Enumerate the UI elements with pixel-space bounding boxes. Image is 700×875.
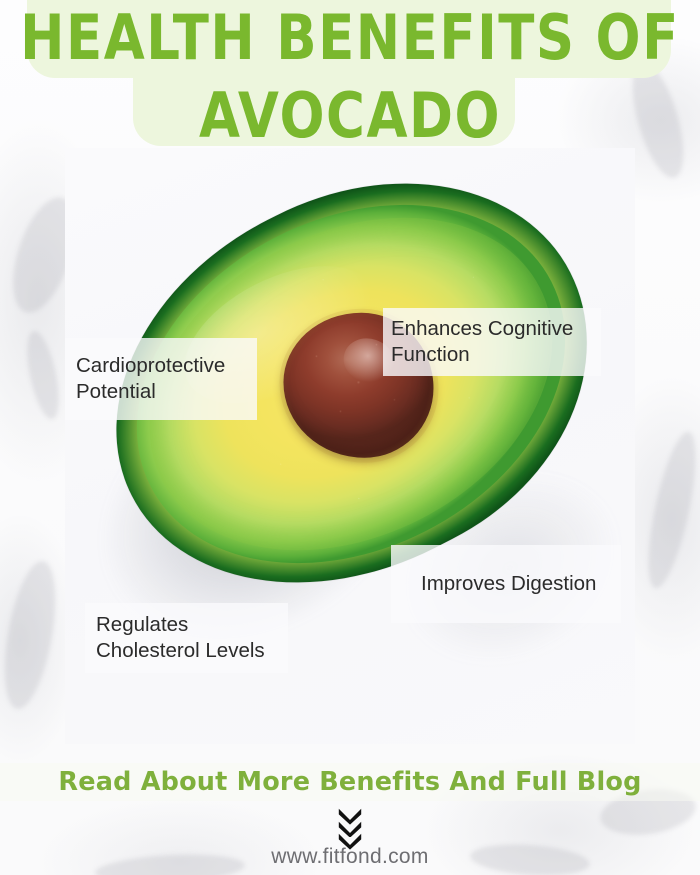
- benefit-label-line-2: Potential: [76, 379, 257, 405]
- website-url[interactable]: www.fitfond.com: [0, 845, 700, 869]
- page-title: HEALTH BENEFITS OF AVOCADO: [0, 0, 700, 150]
- title-line-2: AVOCADO: [199, 84, 501, 150]
- benefit-label-digestion: Improves Digestion: [391, 545, 621, 623]
- benefit-label-line-1: Enhances Cognitive: [391, 316, 601, 342]
- benefit-label-line-1: Cardioprotective: [76, 353, 257, 379]
- chevron-down-stack: [0, 806, 700, 850]
- benefit-label-cholesterol: Regulates Cholesterol Levels: [85, 603, 288, 673]
- benefit-label-line-1: Regulates: [96, 612, 288, 638]
- poster-canvas: HEALTH BENEFITS OF AVOCADO Cardioprotect…: [0, 0, 700, 875]
- benefit-label-cardioprotective: Cardioprotective Potential: [65, 338, 257, 420]
- title-line-1: HEALTH BENEFITS OF: [20, 6, 680, 72]
- benefit-label-line-2: Function: [391, 342, 601, 368]
- benefit-label-line-1: Improves Digestion: [421, 571, 621, 597]
- cta-text[interactable]: Read About More Benefits And Full Blog: [0, 763, 700, 801]
- benefit-label-cognitive: Enhances Cognitive Function: [383, 308, 601, 376]
- benefit-label-line-2: Cholesterol Levels: [96, 638, 288, 664]
